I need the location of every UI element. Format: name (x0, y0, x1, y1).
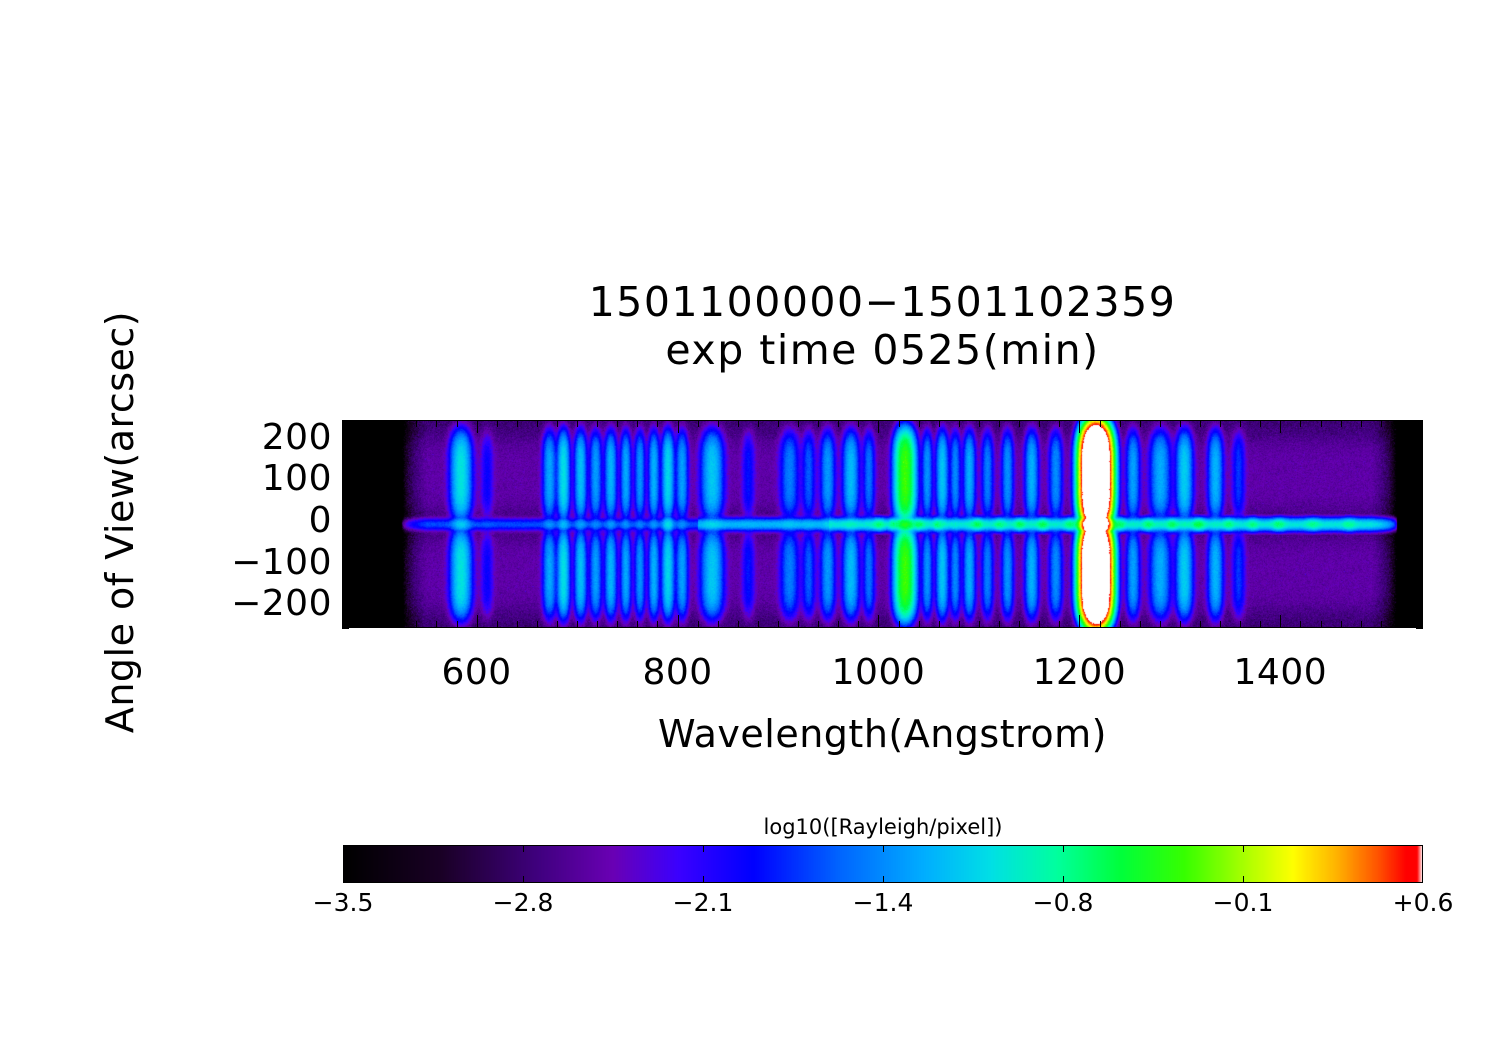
y-minor-tick (342, 503, 349, 504)
x-major-tick (1079, 615, 1080, 628)
y-minor-tick (342, 555, 349, 556)
x-minor-tick-top (436, 420, 437, 427)
x-minor-tick (1140, 621, 1141, 628)
x-minor-tick (1361, 621, 1362, 628)
x-minor-tick (798, 621, 799, 628)
y-minor-tick-right (1416, 534, 1423, 535)
x-minor-tick (698, 621, 699, 628)
colorbar-tick-label: −3.5 (313, 888, 374, 917)
x-minor-tick (1180, 621, 1181, 628)
x-minor-tick (979, 621, 980, 628)
x-minor-tick-top (1321, 420, 1322, 427)
colorbar-tick-label: −2.1 (673, 888, 734, 917)
y-minor-tick-right (1416, 597, 1423, 598)
x-minor-tick-top (416, 420, 417, 427)
y-minor-tick-right (1416, 586, 1423, 587)
figure-root: 1501100000−1501102359 exp time 0525(min)… (0, 0, 1497, 1058)
x-axis-tick-labels: 600800100012001400 (342, 652, 1423, 704)
x-minor-tick-top (356, 420, 357, 427)
y-minor-tick (342, 628, 349, 629)
title-line-1: 1501100000−1501102359 (342, 278, 1423, 326)
x-minor-tick-top (919, 420, 920, 427)
x-minor-tick-top (637, 420, 638, 427)
y-minor-tick (342, 545, 349, 546)
colorbar-tick-label: −2.8 (493, 888, 554, 917)
x-minor-tick (376, 621, 377, 628)
x-minor-tick (959, 621, 960, 628)
x-minor-tick (778, 621, 779, 628)
x-minor-tick-top (597, 420, 598, 427)
x-minor-tick-top (738, 420, 739, 427)
x-minor-tick-top (1421, 420, 1422, 427)
y-major-tick (342, 607, 355, 608)
x-minor-tick-top (396, 420, 397, 427)
y-major-tick (342, 524, 355, 525)
x-minor-tick (999, 621, 1000, 628)
y-minor-tick-right (1416, 576, 1423, 577)
x-minor-tick (738, 621, 739, 628)
x-minor-tick-top (979, 420, 980, 427)
y-minor-tick-right (1416, 618, 1423, 619)
x-major-tick-top (477, 420, 478, 433)
x-minor-tick (1200, 621, 1201, 628)
x-major-tick (477, 615, 478, 628)
x-minor-tick (939, 621, 940, 628)
y-minor-tick-right (1416, 628, 1423, 629)
y-tick-label: 200 (262, 417, 332, 458)
x-minor-tick (497, 621, 498, 628)
title-line-2: exp time 0525(min) (342, 326, 1423, 374)
colorbar-title: log10([Rayleigh/pixel]) (343, 815, 1423, 839)
x-minor-tick-top (1240, 420, 1241, 427)
x-minor-tick-top (1140, 420, 1141, 427)
y-major-tick-right (1410, 482, 1423, 483)
x-minor-tick-top (1200, 420, 1201, 427)
y-minor-tick-right (1416, 420, 1423, 421)
colorbar-tick-label: −1.4 (853, 888, 914, 917)
x-minor-tick (1019, 621, 1020, 628)
x-minor-tick (1401, 621, 1402, 628)
x-minor-tick (1160, 621, 1161, 628)
y-tick-label: 0 (309, 500, 332, 541)
x-minor-tick-top (858, 420, 859, 427)
x-minor-tick (457, 621, 458, 628)
x-minor-tick-top (497, 420, 498, 427)
y-major-tick (342, 441, 355, 442)
x-minor-tick (1039, 621, 1040, 628)
colorbar-tick-labels: −3.5−2.8−2.1−1.4−0.8−0.1+0.6 (343, 888, 1423, 928)
x-minor-tick (718, 621, 719, 628)
x-major-tick (1280, 615, 1281, 628)
y-minor-tick-right (1416, 430, 1423, 431)
x-minor-tick (657, 621, 658, 628)
y-minor-tick (342, 618, 349, 619)
x-minor-tick-top (718, 420, 719, 427)
x-minor-tick-top (1160, 420, 1161, 427)
x-tick-label: 800 (642, 652, 712, 693)
x-minor-tick-top (577, 420, 578, 427)
y-minor-tick (342, 534, 349, 535)
colorbar-tick-label: +0.6 (1393, 888, 1454, 917)
y-minor-tick-right (1416, 555, 1423, 556)
x-axis-title: Wavelength(Angstrom) (342, 712, 1423, 756)
x-minor-tick-top (617, 420, 618, 427)
x-minor-tick (1321, 621, 1322, 628)
x-minor-tick-top (698, 420, 699, 427)
x-minor-tick (1120, 621, 1121, 628)
y-minor-tick-right (1416, 451, 1423, 452)
x-minor-tick (597, 621, 598, 628)
x-minor-tick-top (1341, 420, 1342, 427)
x-minor-tick (899, 621, 900, 628)
spectrogram-image (342, 420, 1423, 628)
x-minor-tick-top (758, 420, 759, 427)
x-minor-tick-top (798, 420, 799, 427)
x-minor-tick-top (1100, 420, 1101, 427)
x-minor-tick-top (537, 420, 538, 427)
colorbar (343, 845, 1423, 883)
x-minor-tick (436, 621, 437, 628)
x-minor-tick (838, 621, 839, 628)
x-minor-tick-top (1401, 420, 1402, 427)
x-minor-tick-top (1260, 420, 1261, 427)
y-major-tick-right (1410, 566, 1423, 567)
x-minor-tick (1220, 621, 1221, 628)
x-minor-tick (396, 621, 397, 628)
x-minor-tick (1240, 621, 1241, 628)
x-major-tick-top (878, 420, 879, 433)
x-minor-tick-top (1120, 420, 1121, 427)
y-minor-tick (342, 420, 349, 421)
x-tick-label: 1000 (832, 652, 926, 693)
x-minor-tick (416, 621, 417, 628)
y-minor-tick (342, 451, 349, 452)
colorbar-tick-label: −0.8 (1033, 888, 1094, 917)
y-major-tick (342, 482, 355, 483)
colorbar-gradient (343, 845, 1423, 883)
y-axis-title: Angle of View(arcsec) (98, 242, 142, 802)
x-minor-tick-top (457, 420, 458, 427)
x-minor-tick (1421, 621, 1422, 628)
x-major-tick (878, 615, 879, 628)
y-minor-tick-right (1416, 545, 1423, 546)
x-minor-tick (758, 621, 759, 628)
x-minor-tick-top (999, 420, 1000, 427)
x-tick-label: 600 (442, 652, 512, 693)
x-minor-tick-top (517, 420, 518, 427)
x-minor-tick (1300, 621, 1301, 628)
x-minor-tick (356, 621, 357, 628)
x-minor-tick-top (1361, 420, 1362, 427)
y-minor-tick-right (1416, 514, 1423, 515)
y-minor-tick-right (1416, 493, 1423, 494)
x-minor-tick-top (939, 420, 940, 427)
y-major-tick-right (1410, 441, 1423, 442)
x-minor-tick-top (1039, 420, 1040, 427)
spectrogram-panel (342, 420, 1423, 628)
x-minor-tick-top (1059, 420, 1060, 427)
y-minor-tick (342, 430, 349, 431)
x-minor-tick-top (1381, 420, 1382, 427)
y-minor-tick (342, 493, 349, 494)
y-axis-tick-labels: 2001000−100−200 (180, 420, 332, 628)
x-minor-tick-top (899, 420, 900, 427)
x-major-tick (678, 615, 679, 628)
x-minor-tick (1260, 621, 1261, 628)
x-major-tick-top (678, 420, 679, 433)
y-tick-label: −200 (231, 583, 332, 624)
plot-title: 1501100000−1501102359 exp time 0525(min) (342, 278, 1423, 375)
x-minor-tick (919, 621, 920, 628)
colorbar-tick-label: −0.1 (1213, 888, 1274, 917)
y-minor-tick (342, 576, 349, 577)
x-major-tick-top (1280, 420, 1281, 433)
x-minor-tick (1381, 621, 1382, 628)
x-major-tick-top (1079, 420, 1080, 433)
y-minor-tick (342, 586, 349, 587)
x-minor-tick (858, 621, 859, 628)
x-minor-tick (577, 621, 578, 628)
x-minor-tick-top (1180, 420, 1181, 427)
x-minor-tick-top (959, 420, 960, 427)
y-major-tick-right (1410, 607, 1423, 608)
y-major-tick-right (1410, 524, 1423, 525)
y-minor-tick-right (1416, 472, 1423, 473)
x-minor-tick-top (376, 420, 377, 427)
x-minor-tick-top (1300, 420, 1301, 427)
x-minor-tick-top (657, 420, 658, 427)
x-minor-tick-top (1220, 420, 1221, 427)
x-minor-tick-top (778, 420, 779, 427)
y-minor-tick (342, 472, 349, 473)
y-tick-label: 100 (262, 458, 332, 499)
y-minor-tick (342, 514, 349, 515)
x-tick-label: 1200 (1033, 652, 1127, 693)
y-tick-label: −100 (231, 542, 332, 583)
x-minor-tick (517, 621, 518, 628)
y-minor-tick-right (1416, 462, 1423, 463)
x-minor-tick (537, 621, 538, 628)
x-minor-tick-top (818, 420, 819, 427)
x-minor-tick (557, 621, 558, 628)
x-minor-tick (617, 621, 618, 628)
x-minor-tick (1059, 621, 1060, 628)
x-minor-tick-top (557, 420, 558, 427)
y-minor-tick (342, 462, 349, 463)
x-minor-tick (637, 621, 638, 628)
x-minor-tick (1100, 621, 1101, 628)
y-minor-tick (342, 597, 349, 598)
x-minor-tick-top (1019, 420, 1020, 427)
y-minor-tick-right (1416, 503, 1423, 504)
x-tick-label: 1400 (1234, 652, 1328, 693)
x-minor-tick (1341, 621, 1342, 628)
y-major-tick (342, 566, 355, 567)
x-minor-tick (818, 621, 819, 628)
x-minor-tick-top (838, 420, 839, 427)
